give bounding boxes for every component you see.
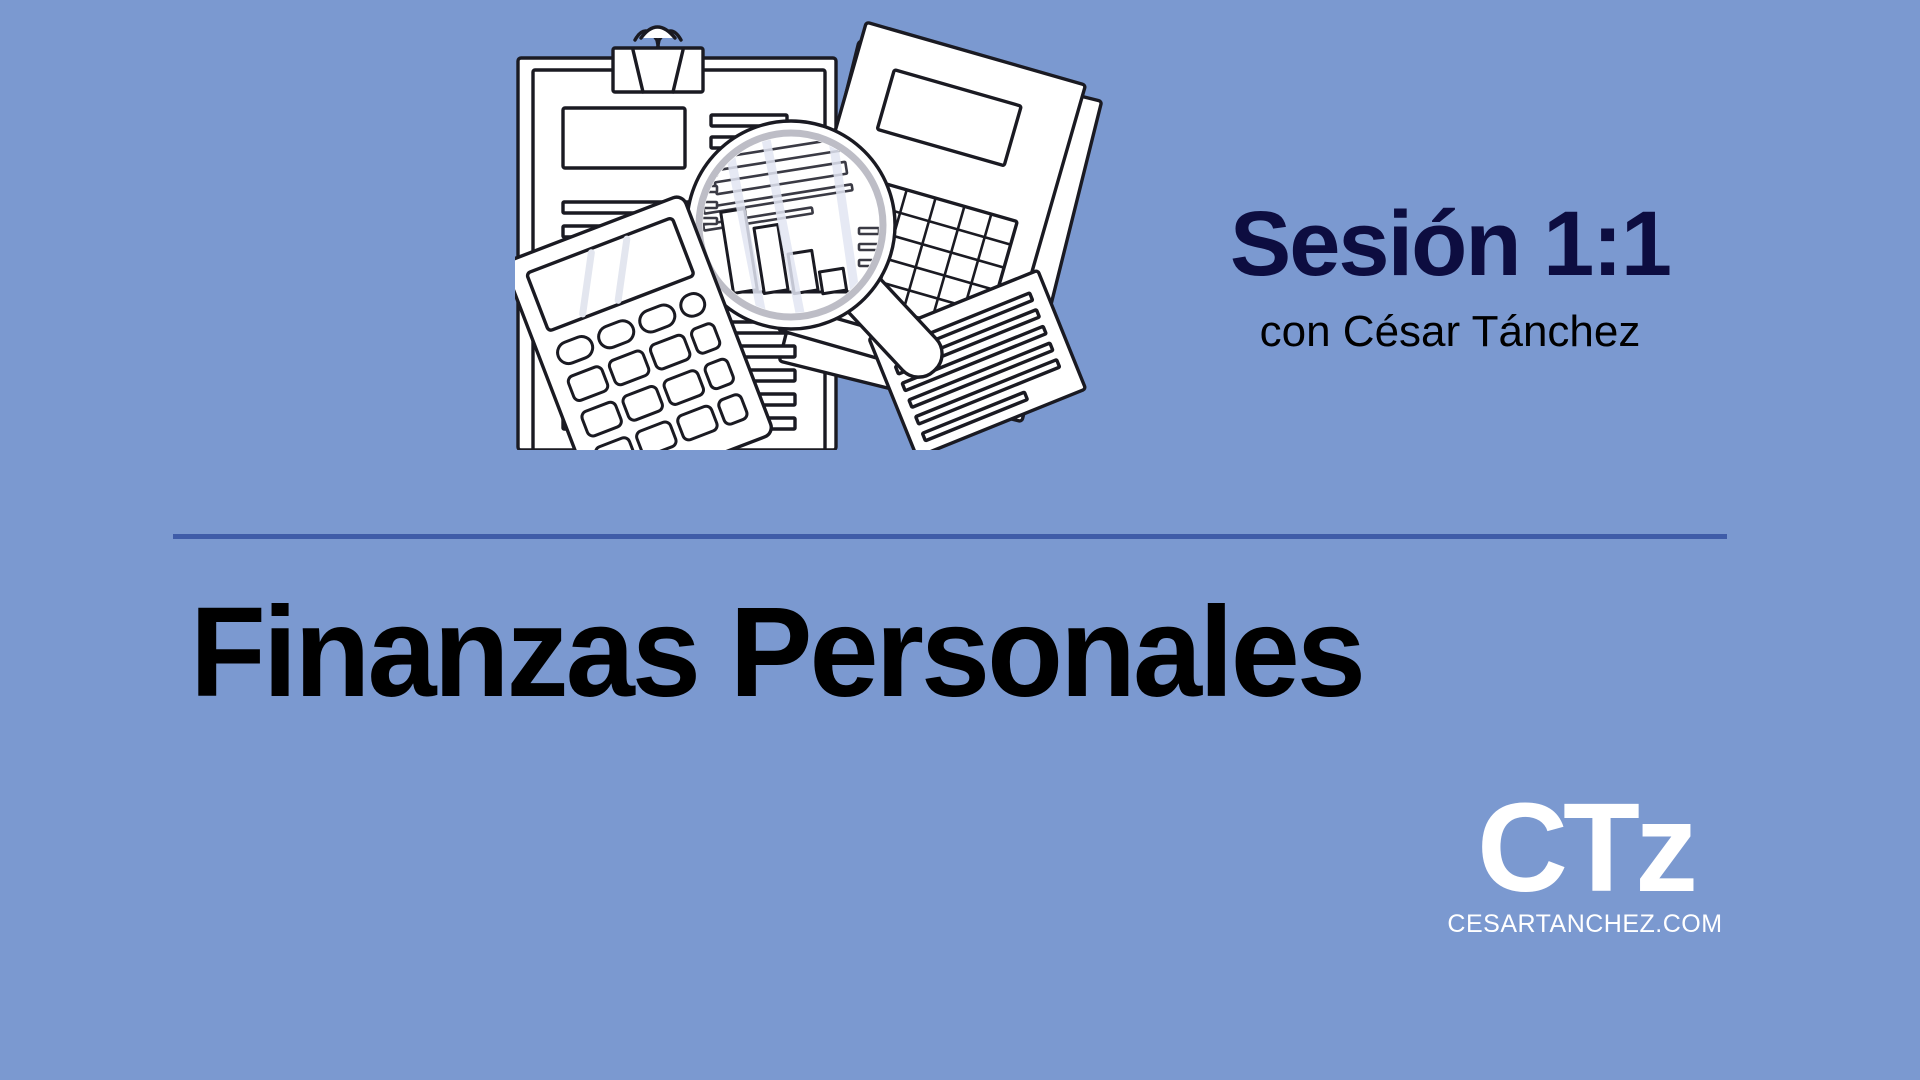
logo-wordmark: CTz [1430, 790, 1740, 906]
horizontal-divider [173, 534, 1727, 539]
brand-logo-block: CTz CESARTANCHEZ.COM [1430, 790, 1740, 939]
financial-documents-illustration [515, 20, 1135, 450]
binder-clip [613, 27, 703, 92]
session-heading-block: Sesión 1:1 con César Tánchez [1140, 198, 1760, 356]
page-title: Finanzas Personales [190, 586, 1703, 720]
logo-website-url: CESARTANCHEZ.COM [1430, 910, 1740, 939]
session-subtitle: con César Tánchez [1140, 308, 1760, 356]
session-title: Sesión 1:1 [1140, 198, 1760, 290]
